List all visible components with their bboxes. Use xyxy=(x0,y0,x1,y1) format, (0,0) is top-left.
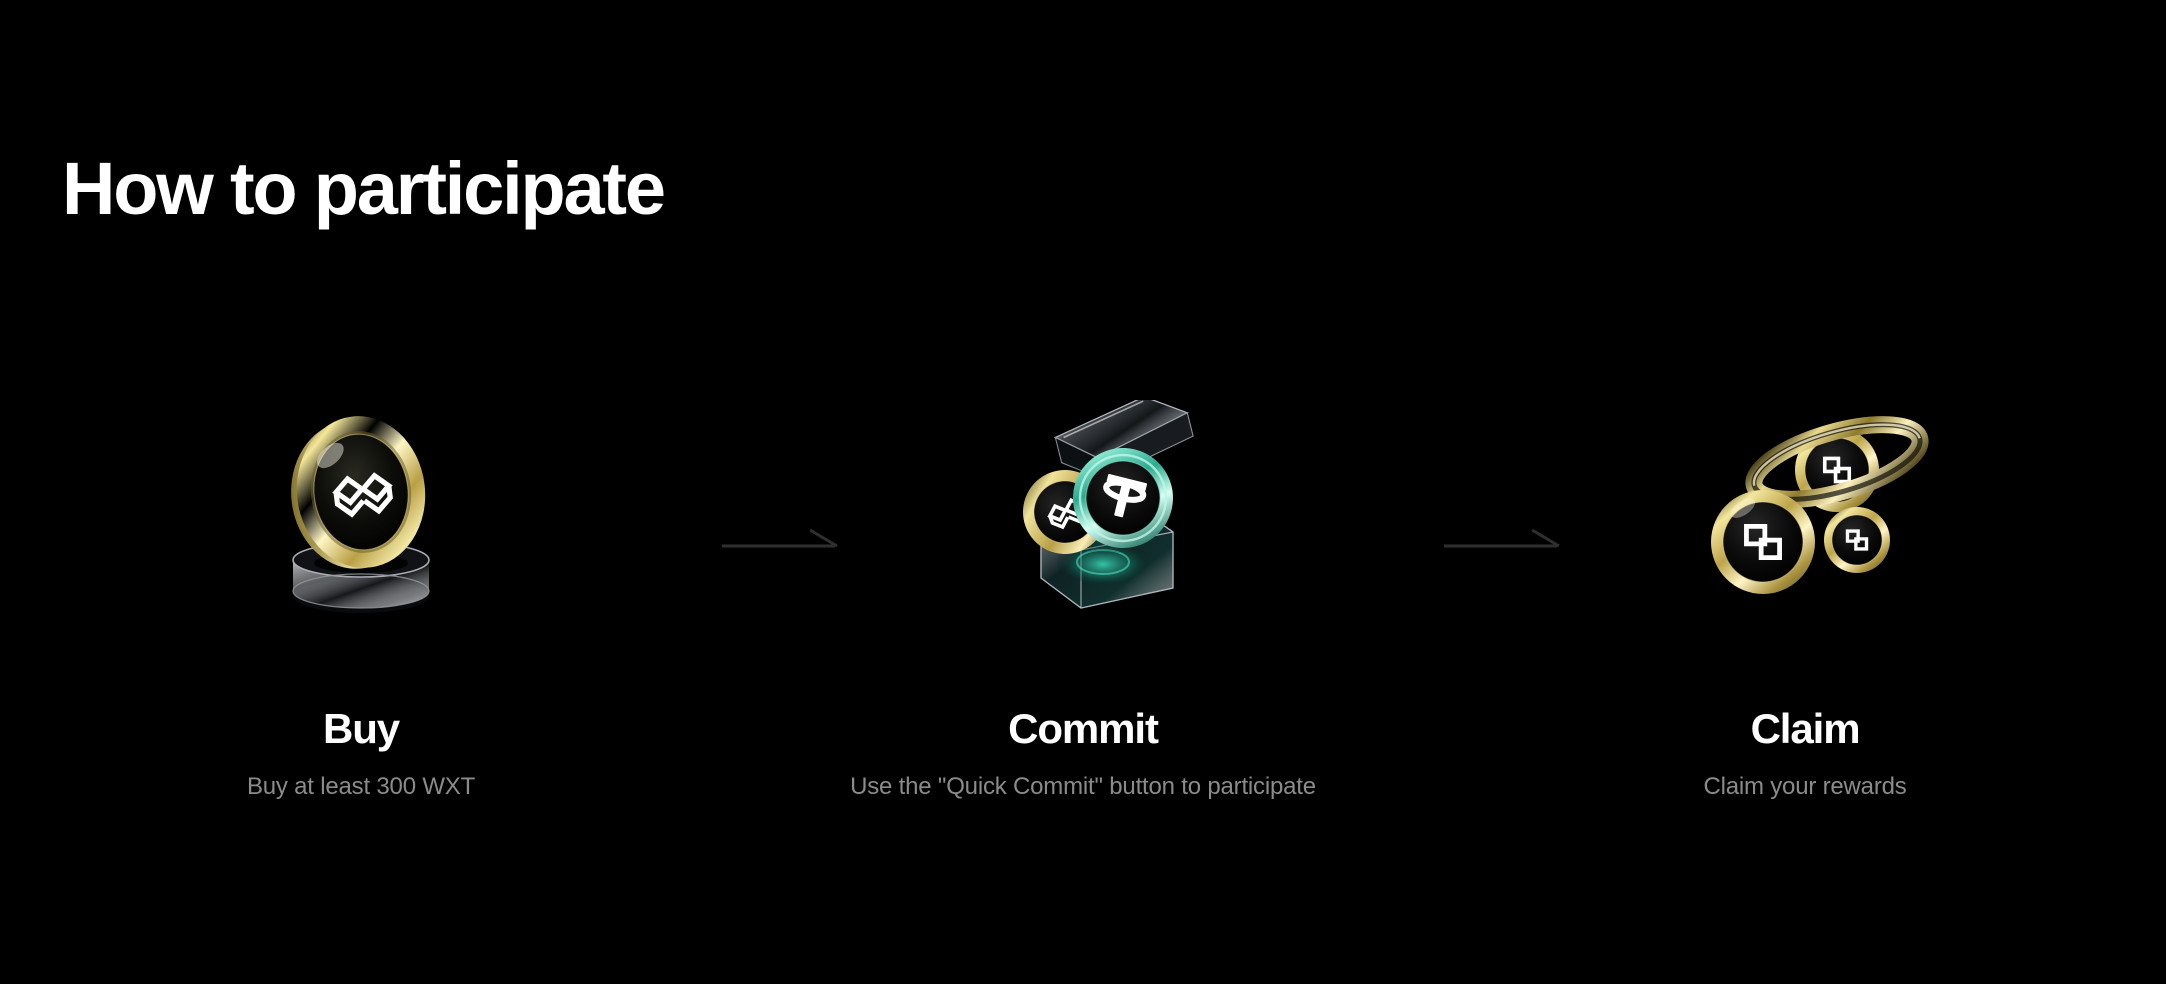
step-commit-label: Commit xyxy=(1008,708,1158,750)
step-commit-visual xyxy=(933,400,1233,630)
gold-coins-with-ring-icon xyxy=(1655,400,1955,630)
step-buy-label: Buy xyxy=(323,708,399,750)
step-commit-description: Use the "Quick Commit" button to partici… xyxy=(850,775,1316,799)
step-claim-description: Claim your rewards xyxy=(1703,775,1906,799)
glass-chest-with-coins-icon xyxy=(933,400,1233,630)
step-claim-visual xyxy=(1655,400,1955,630)
step-claim: Claim Claim your rewards xyxy=(1444,400,2166,799)
step-commit: Commit Use the "Quick Commit" button to … xyxy=(722,400,1444,799)
gold-wxt-coin-on-pedestal-icon xyxy=(211,400,511,630)
step-buy-visual xyxy=(211,400,511,630)
page-title: How to participate xyxy=(62,152,664,226)
step-buy-description: Buy at least 300 WXT xyxy=(247,775,475,799)
steps-container: Buy Buy at least 300 WXT xyxy=(0,400,2166,880)
step-buy: Buy Buy at least 300 WXT xyxy=(0,400,722,799)
step-claim-label: Claim xyxy=(1751,708,1860,750)
